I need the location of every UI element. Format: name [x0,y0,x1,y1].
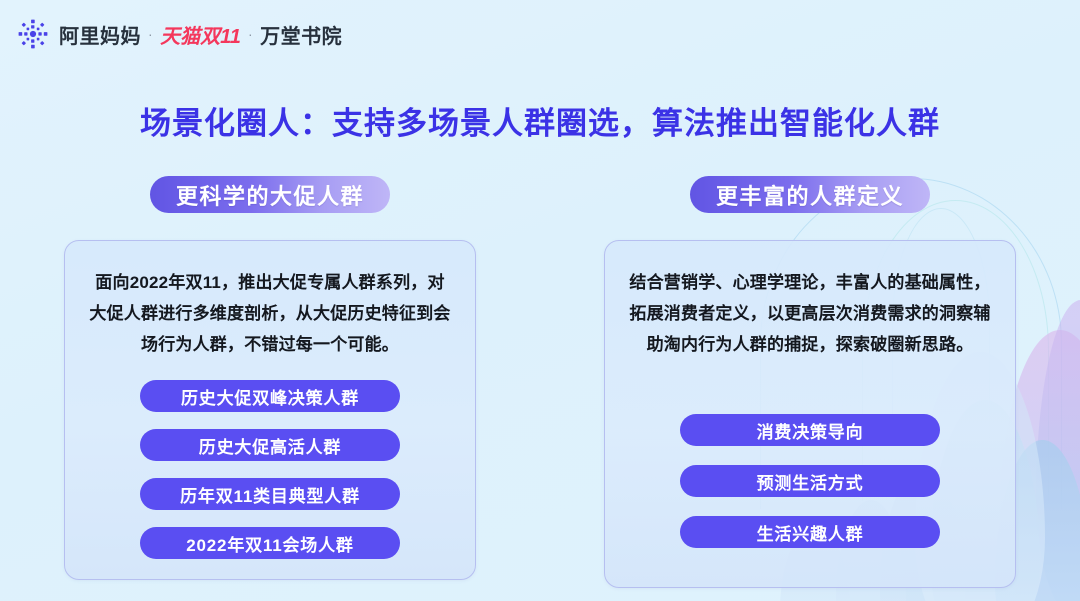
card-left-body: 面向2022年双11，推出大促专属人群系列，对大促人群进行多维度剖析，从大促历史… [87,267,453,360]
tag-item[interactable]: 历史大促高活人群 [140,429,400,461]
card-left: 面向2022年双11，推出大促专属人群系列，对大促人群进行多维度剖析，从大促历史… [64,240,476,580]
brand-separator-2: · [248,26,253,42]
alimama-burst-icon [16,17,50,51]
tag-item[interactable]: 预测生活方式 [680,465,940,497]
tag-list-left: 历史大促双峰决策人群 历史大促高活人群 历年双11类目典型人群 2022年双11… [87,380,453,559]
tag-item[interactable]: 消费决策导向 [680,414,940,446]
tag-item[interactable]: 历史大促双峰决策人群 [140,380,400,412]
tag-item[interactable]: 2022年双11会场人群 [140,527,400,559]
brand-academy: 万堂书院 [260,20,342,49]
slide-canvas: 阿里妈妈 · 天猫双11 · 万堂书院 场景化圈人：支持多场景人群圈选，算法推出… [0,0,1080,601]
section-header-right: 更丰富的人群定义 [690,176,930,213]
page-title: 场景化圈人：支持多场景人群圈选，算法推出智能化人群 [0,98,1080,143]
column-left: 更科学的大促人群 面向2022年双11，推出大促专属人群系列，对大促人群进行多维… [0,176,540,588]
card-right: 结合营销学、心理学理论，丰富人的基础属性，拓展消费者定义，以更高层次消费需求的洞… [604,240,1016,588]
brand-header: 阿里妈妈 · 天猫双11 · 万堂书院 [0,0,1080,68]
brand-campaign: 天猫双11 [160,20,241,49]
tag-item[interactable]: 生活兴趣人群 [680,516,940,548]
brand-name: 阿里妈妈 [59,20,141,49]
card-right-body: 结合营销学、心理学理论，丰富人的基础属性，拓展消费者定义，以更高层次消费需求的洞… [627,267,993,360]
tag-list-right: 消费决策导向 预测生活方式 生活兴趣人群 [627,414,993,567]
section-header-left: 更科学的大促人群 [150,176,390,213]
brand-separator-1: · [148,26,153,42]
brand-lockup: 阿里妈妈 · 天猫双11 · 万堂书院 [59,20,342,49]
content-columns: 更科学的大促人群 面向2022年双11，推出大促专属人群系列，对大促人群进行多维… [0,176,1080,588]
tag-item[interactable]: 历年双11类目典型人群 [140,478,400,510]
column-right: 更丰富的人群定义 结合营销学、心理学理论，丰富人的基础属性，拓展消费者定义，以更… [540,176,1080,588]
